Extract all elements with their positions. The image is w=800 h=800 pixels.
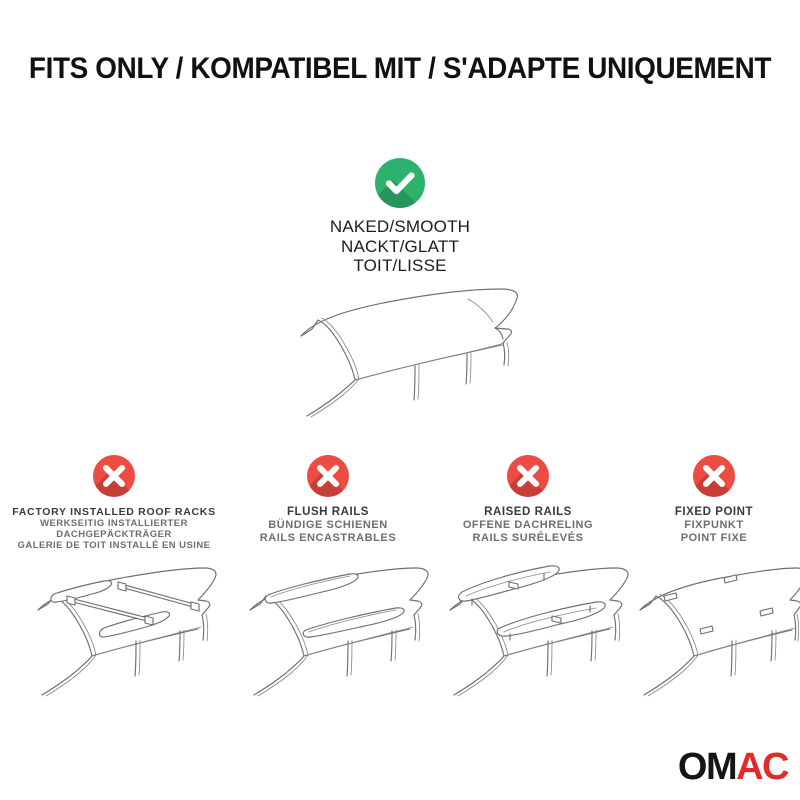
incompatible-caption-raised-rails: RAISED RAILS OFFENE DACHRELING RAILS SUR… [428, 506, 628, 545]
caption-line-2: FIXPUNKT [628, 519, 800, 532]
compatible-caption: NAKED/SMOOTH NACKT/GLATT TOIT/LISSE [275, 217, 525, 276]
car-roof-with-flush-rails-illustration [224, 552, 429, 700]
caption-line-3: DACHGEPÄCKTRÄGER [0, 529, 228, 540]
red-x-circle-icon [693, 455, 735, 497]
red-x-circle-icon [93, 455, 135, 497]
caption-line-1: RAISED RAILS [428, 506, 628, 519]
incompatible-caption-factory-roof-racks: FACTORY INSTALLED ROOF RACKS WERKSEITIG … [0, 506, 228, 551]
car-roof-with-factory-crossbars-illustration [8, 552, 223, 700]
incompatible-caption-flush-rails: FLUSH RAILS BÜNDIGE SCHIENEN RAILS ENCAS… [228, 506, 428, 545]
red-x-circle-icon [507, 455, 549, 497]
smooth-car-roof-illustration [255, 276, 555, 431]
caption-line-4: GALERIE DE TOIT INSTALLÉ EN USINE [0, 540, 228, 551]
caption-line-1: FACTORY INSTALLED ROOF RACKS [0, 506, 228, 518]
omac-brand-logo: OMAC [678, 748, 788, 786]
caption-line-3: RAILS SURÉLEVÉS [428, 532, 628, 545]
incompatible-card-fixed-point: FIXED POINT FIXPUNKT POINT FIXE [628, 455, 800, 545]
page-title: FITS ONLY / KOMPATIBEL MIT / S'ADAPTE UN… [0, 52, 800, 86]
caption-line-2: BÜNDIGE SCHIENEN [228, 519, 428, 532]
car-roof-with-fixed-points-illustration [620, 552, 800, 700]
caption-line-3: POINT FIXE [628, 532, 800, 545]
car-roof-with-raised-rails-illustration [424, 552, 629, 700]
compatible-caption-line-3: TOIT/LISSE [275, 256, 525, 276]
incompatible-caption-fixed-point: FIXED POINT FIXPUNKT POINT FIXE [628, 506, 800, 545]
compatible-caption-line-2: NACKT/GLATT [275, 237, 525, 257]
green-check-circle-icon [375, 158, 425, 208]
caption-line-2: OFFENE DACHRELING [428, 519, 628, 532]
page-title-text: FITS ONLY / KOMPATIBEL MIT / S'ADAPTE UN… [29, 52, 771, 86]
logo-text-dark: OM [678, 746, 736, 788]
incompatible-card-factory-roof-racks: FACTORY INSTALLED ROOF RACKS WERKSEITIG … [0, 455, 228, 551]
logo-text-red: AC [736, 746, 788, 788]
incompatible-card-flush-rails: FLUSH RAILS BÜNDIGE SCHIENEN RAILS ENCAS… [228, 455, 428, 545]
compatible-roof-type-card: NAKED/SMOOTH NACKT/GLATT TOIT/LISSE [275, 158, 525, 276]
caption-line-1: FIXED POINT [628, 506, 800, 519]
red-x-circle-icon [307, 455, 349, 497]
caption-line-3: RAILS ENCASTRABLES [228, 532, 428, 545]
caption-line-1: FLUSH RAILS [228, 506, 428, 519]
compatible-caption-line-1: NAKED/SMOOTH [275, 217, 525, 237]
incompatible-card-raised-rails: RAISED RAILS OFFENE DACHRELING RAILS SUR… [428, 455, 628, 545]
caption-line-2: WERKSEITIG INSTALLIERTER [0, 518, 228, 529]
